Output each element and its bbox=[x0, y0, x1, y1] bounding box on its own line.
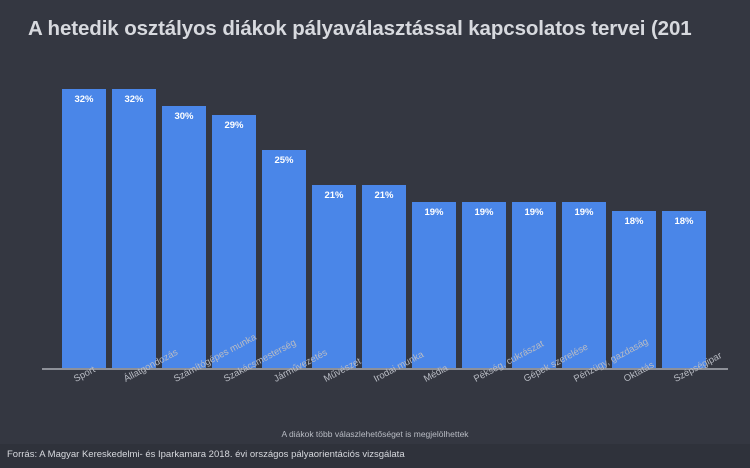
bar-value-label: 19% bbox=[462, 207, 506, 218]
bar-1: 32% bbox=[62, 89, 106, 368]
bar-rect: 19% bbox=[412, 202, 456, 368]
source-text: Forrás: A Magyar Kereskedelmi- és Iparka… bbox=[7, 449, 405, 460]
bar-value-label: 30% bbox=[162, 111, 206, 122]
bar-rect: 18% bbox=[662, 211, 706, 368]
bar-rect: 29% bbox=[212, 115, 256, 368]
x-axis-labels: SportÁllatgondozásSzámítógépes munkaSzak… bbox=[42, 369, 750, 427]
bar-value-label: 21% bbox=[312, 190, 356, 201]
plot-area: 32%32%30%29%25%21%21%19%19%19%19%18%18% bbox=[42, 80, 728, 369]
bar-value-label: 19% bbox=[512, 207, 556, 218]
bar-3: 30% bbox=[162, 106, 206, 368]
bar-13: 18% bbox=[662, 211, 706, 368]
bar-4: 29% bbox=[212, 115, 256, 368]
bar-rect: 32% bbox=[62, 89, 106, 368]
bar-value-label: 18% bbox=[612, 216, 656, 227]
bar-rect: 21% bbox=[362, 185, 406, 368]
bar-value-label: 32% bbox=[112, 94, 156, 105]
bar-value-label: 19% bbox=[412, 207, 456, 218]
bar-rect: 25% bbox=[262, 150, 306, 368]
bar-value-label: 21% bbox=[362, 190, 406, 201]
source-band: Forrás: A Magyar Kereskedelmi- és Iparka… bbox=[0, 444, 750, 468]
bar-rect: 30% bbox=[162, 106, 206, 368]
bar-value-label: 29% bbox=[212, 120, 256, 131]
chart-title: A hetedik osztályos diákok pályaválasztá… bbox=[28, 17, 750, 41]
bar-rect: 32% bbox=[112, 89, 156, 368]
bar-value-label: 25% bbox=[262, 155, 306, 166]
bar-rect: 19% bbox=[462, 202, 506, 368]
bars-layer: 32%32%30%29%25%21%21%19%19%19%19%18%18% bbox=[42, 80, 728, 368]
bar-9: 19% bbox=[462, 202, 506, 368]
bar-7: 21% bbox=[362, 185, 406, 368]
bar-2: 32% bbox=[112, 89, 156, 368]
bar-5: 25% bbox=[262, 150, 306, 368]
chart-footnote: A diákok több válaszlehetőséget is megje… bbox=[0, 429, 750, 439]
bar-value-label: 19% bbox=[562, 207, 606, 218]
bar-rect: 21% bbox=[312, 185, 356, 368]
bar-6: 21% bbox=[312, 185, 356, 368]
bar-chart: A hetedik osztályos diákok pályaválasztá… bbox=[0, 0, 750, 468]
bar-8: 19% bbox=[412, 202, 456, 368]
bar-value-label: 18% bbox=[662, 216, 706, 227]
bar-value-label: 32% bbox=[62, 94, 106, 105]
